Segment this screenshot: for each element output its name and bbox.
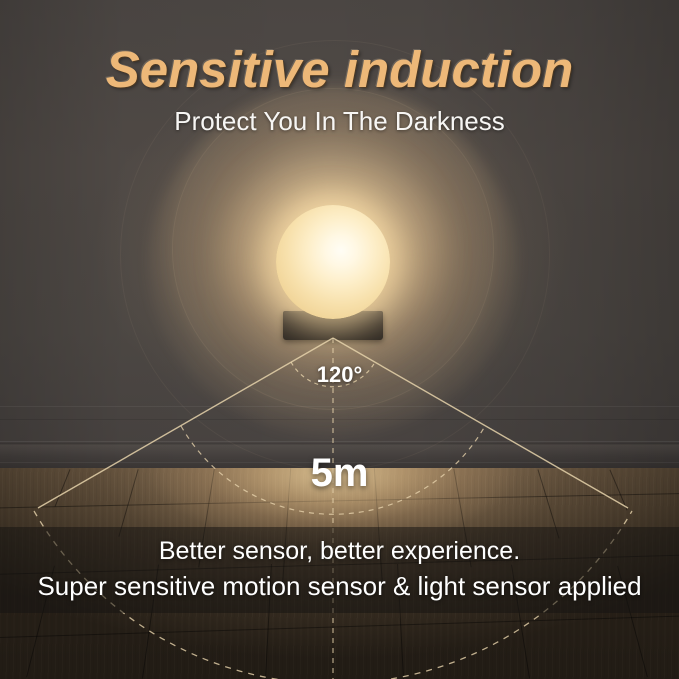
detection-distance-label: 5m xyxy=(0,451,679,496)
page-subtitle: Protect You In The Darkness xyxy=(0,108,679,134)
detection-angle-label: 120° xyxy=(0,362,679,388)
product-feature-image: Sensitive induction Protect You In The D… xyxy=(0,0,679,679)
caption-line-2: Super sensitive motion sensor & light se… xyxy=(0,571,679,602)
lamp-globe xyxy=(276,205,390,319)
caption-line-1: Better sensor, better experience. xyxy=(0,537,679,566)
page-title: Sensitive induction xyxy=(0,44,679,95)
